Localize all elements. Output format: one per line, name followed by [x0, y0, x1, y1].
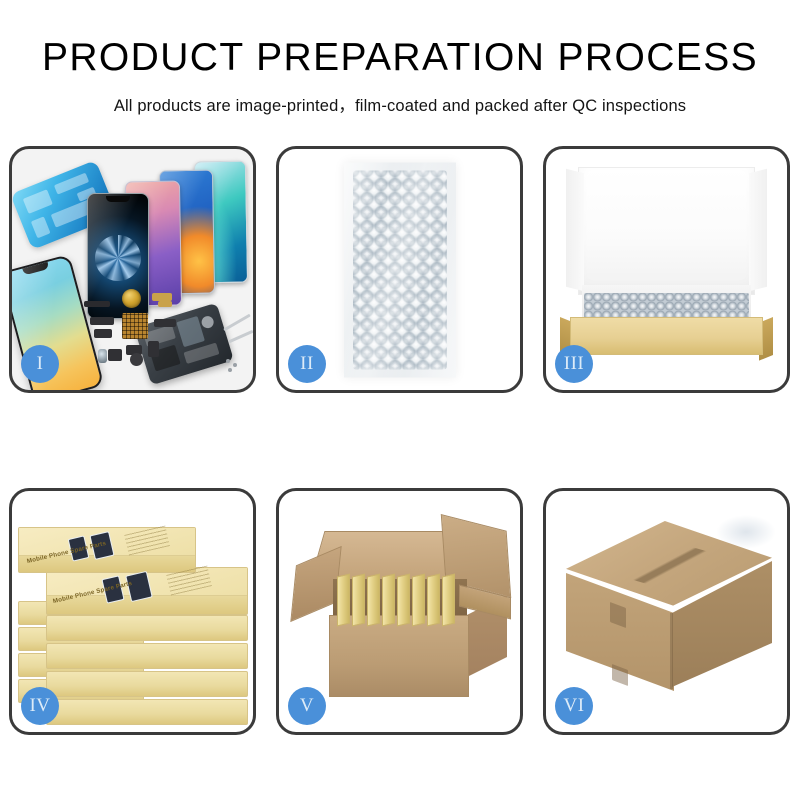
- part-flex-strip-a: [90, 317, 114, 325]
- process-step-panel-3: III: [543, 146, 790, 393]
- part-flex-cable-a: [152, 293, 172, 301]
- step-badge-1: I: [21, 345, 59, 383]
- mailer-body-front: [570, 317, 763, 355]
- part-flex-cable-b: [158, 301, 172, 307]
- retail-boxes-in-carton: [337, 575, 465, 625]
- plastic-sheen: [344, 162, 456, 377]
- part-speaker: [122, 289, 141, 308]
- part-screw-b: [233, 363, 237, 367]
- phone-notch: [106, 196, 130, 202]
- product-preparation-infographic: PRODUCT PREPARATION PROCESS All products…: [0, 0, 800, 800]
- part-flex-strip-c: [154, 319, 176, 327]
- bubble-wrap-pouch: [344, 162, 456, 377]
- carton-retail-box: [337, 573, 350, 626]
- header: PRODUCT PREPARATION PROCESS All products…: [0, 0, 800, 116]
- page-subtitle: All products are image-printed，film-coat…: [0, 92, 800, 116]
- carton-retail-box: [367, 573, 380, 626]
- step-badge-6: VI: [555, 687, 593, 725]
- part-screw-c: [228, 368, 232, 372]
- retail-box-r4: [46, 643, 248, 669]
- carton-retail-box: [397, 573, 410, 626]
- sealed-shipping-carton: [566, 521, 772, 707]
- part-battery-cell: [148, 341, 159, 357]
- part-tool-driver: [229, 330, 253, 343]
- step-badge-5: V: [288, 687, 326, 725]
- carton-retail-box: [382, 573, 395, 626]
- mailer-lid-right: [749, 169, 767, 291]
- step-badge-2: II: [288, 345, 326, 383]
- open-shipping-carton: [293, 517, 509, 713]
- process-step-panel-1: I: [9, 146, 256, 393]
- step-badge-4: IV: [21, 687, 59, 725]
- part-tool-tweezer: [223, 314, 250, 332]
- part-antenna-bar: [84, 301, 110, 307]
- process-step-panel-2: II: [276, 146, 523, 393]
- retail-box-r5: [46, 671, 248, 697]
- process-step-panel-6: VI: [543, 488, 790, 735]
- mailer-lid-left: [566, 169, 584, 291]
- part-sim-tray: [108, 349, 122, 361]
- carton-retail-box: [352, 573, 365, 626]
- page-title: PRODUCT PREPARATION PROCESS: [0, 38, 800, 79]
- wallpaper-burst: [95, 235, 141, 281]
- part-screw-a: [226, 359, 230, 363]
- carton-retail-box: [442, 573, 455, 626]
- carton-retail-box: [412, 573, 425, 626]
- carton-retail-box: [427, 573, 440, 626]
- process-step-panel-5: V: [276, 488, 523, 735]
- part-chip-grid: [122, 313, 148, 339]
- mailer-lid: [578, 167, 755, 295]
- part-camera-lens: [98, 349, 107, 363]
- carton-front-edge: [670, 613, 673, 689]
- process-step-grid: I II: [9, 146, 791, 746]
- process-step-panel-4: Mobile Phone Spare Parts Mobile Phone Sp…: [9, 488, 256, 735]
- open-mailer-box: [560, 167, 773, 346]
- retail-box-r6: [46, 699, 248, 725]
- phone-notch: [22, 262, 49, 275]
- step-badge-3: III: [555, 345, 593, 383]
- part-flex-strip-b: [94, 329, 112, 338]
- carton-front-face: [329, 615, 469, 697]
- retail-box-r3: [46, 615, 248, 641]
- part-speaker-dome: [130, 353, 143, 366]
